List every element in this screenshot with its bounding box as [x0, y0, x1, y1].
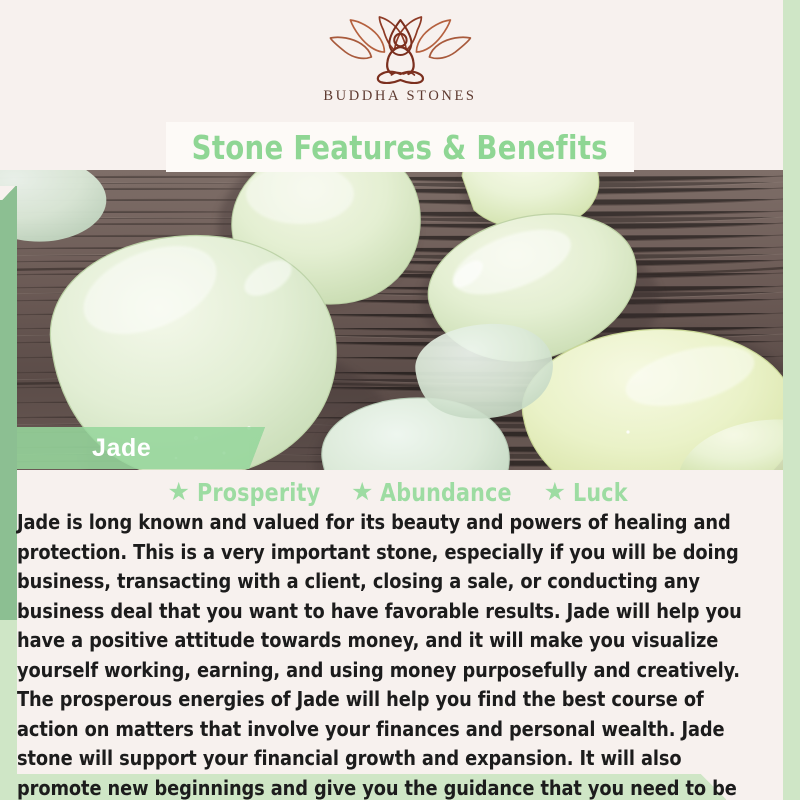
frame-left-strip: [0, 200, 17, 620]
lotus-meditation-icon: [325, 14, 475, 84]
benefit-label: Abundance: [380, 478, 512, 507]
star-icon: ★: [544, 480, 566, 505]
poster-canvas: BUDDHA STONES: [0, 0, 800, 800]
page-title: Stone Features & Benefits: [192, 128, 608, 167]
benefit-item-luck: ★ Luck: [544, 478, 633, 507]
stone-photo-artwork: [0, 170, 783, 470]
benefit-item-abundance: ★ Abundance: [351, 478, 524, 507]
stone-photo: [0, 170, 783, 470]
benefit-label: Luck: [573, 478, 628, 507]
title-banner: Stone Features & Benefits: [166, 122, 634, 172]
benefits-row: ★ Prosperity ★ Abundance ★ Luck: [0, 478, 800, 507]
brand-name: BUDDHA STONES: [323, 88, 476, 105]
star-icon: ★: [351, 480, 373, 505]
star-icon: ★: [168, 480, 190, 505]
stone-name-band: Jade: [17, 427, 249, 469]
frame-right-strip: [783, 0, 800, 800]
brand-logo: BUDDHA STONES: [323, 14, 476, 105]
stone-name: Jade: [17, 434, 151, 463]
stone-name-band-bevel: [249, 427, 265, 469]
benefit-item-prosperity: ★ Prosperity: [168, 478, 331, 507]
benefit-label: Prosperity: [197, 478, 320, 507]
stone-description: Jade is long known and valued for its be…: [17, 508, 756, 800]
header: BUDDHA STONES: [0, 0, 800, 120]
